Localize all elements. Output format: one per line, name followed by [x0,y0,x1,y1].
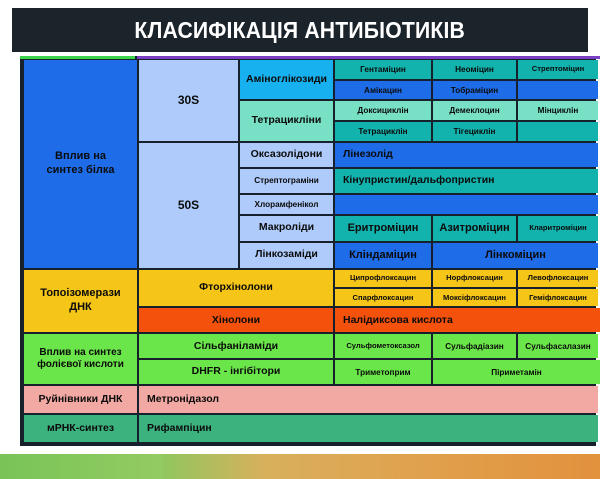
subunit-50s[interactable]: 50S [139,143,238,268]
drug-doxycycline[interactable]: Доксициклін [335,101,431,120]
group-dhfr-inhibitors[interactable]: DHFR - інгібітори [139,360,333,384]
category-folic-acid[interactable]: Вплив на синтезфолієвої кислоти [24,334,137,384]
category-topoisomerases[interactable]: ТопоізомеразиДНК [24,270,137,333]
drug-ciprofloxacin[interactable]: Ципрофлоксацин [335,270,431,287]
drug-sulfamethoxazole[interactable]: Сульфометоксазол [335,334,431,358]
drug-trimethoprim[interactable]: Триметоприм [335,360,431,384]
drug-pyrimethamine[interactable]: Піриметамін [433,360,600,384]
table-row: Вплив насинтез білка 30S Аміноглікозиди … [24,60,600,79]
drug-metronidazole[interactable]: Метронідазол [139,386,598,413]
group-chloramphenicol[interactable]: Хлорамфенікол [240,195,333,214]
drug-norfloxacin[interactable]: Норфлоксацин [433,270,516,287]
accent-green [20,56,135,59]
table-row: мРНК-синтез Рифампіцин [24,415,600,442]
drug-empty [518,81,598,100]
bottom-gradient-bar-green [0,454,163,479]
category-protein-synthesis[interactable]: Вплив насинтез білка [24,60,137,268]
drug-empty [335,195,598,214]
subunit-30s[interactable]: 30S [139,60,238,141]
group-macrolides[interactable]: Макроліди [240,216,333,241]
drug-streptomycin[interactable]: Стрептоміцин [518,60,598,79]
drug-amikacin[interactable]: Амікацин [335,81,431,100]
group-lincosamides[interactable]: Лінкозаміди [240,243,333,268]
drug-erythromycin[interactable]: Еритроміцин [335,216,431,241]
drug-lincomycin[interactable]: Лінкоміцин [433,243,598,268]
drug-tigecycline[interactable]: Тігециклін [433,122,516,141]
category-dna-disruptors[interactable]: Руйнівники ДНК [24,386,137,413]
table-top-accent-strip [20,56,596,60]
drug-gemifloxacin[interactable]: Геміфлоксацин [518,289,598,306]
drug-tetracycline[interactable]: Тетрациклін [335,122,431,141]
classification-table-frame: Вплив насинтез білка 30S Аміноглікозиди … [20,56,596,446]
group-fluoroquinolones[interactable]: Фторхінолони [139,270,333,307]
drug-moxifloxacin[interactable]: Моксіфлоксацин [433,289,516,306]
title-banner: КЛАСИФІКАЦІЯ АНТИБІОТИКІВ [12,8,588,52]
drug-clindamycin[interactable]: Кліндаміцин [335,243,431,268]
antibiotic-classification-table: Вплив насинтез білка 30S Аміноглікозиди … [22,58,600,444]
drug-sulfadiazine[interactable]: Сульфадіазин [433,334,516,358]
group-tetracyclines[interactable]: Тетрацикліни [240,101,333,140]
drug-sulfasalazine[interactable]: Сульфасалазин [518,334,598,358]
drug-demeclocycline[interactable]: Демеклоцин [433,101,516,120]
table-row: Руйнівники ДНК Метронідазол [24,386,600,413]
drug-clarithromycin[interactable]: Кларитроміцин [518,216,598,241]
drug-empty [518,122,598,141]
drug-levofloxacin[interactable]: Левофлоксацин [518,270,598,287]
table-row: ТопоізомеразиДНК Фторхінолони Ципрофлокс… [24,270,600,287]
drug-gentamicin[interactable]: Гентаміцин [335,60,431,79]
drug-tobramycin[interactable]: Тобраміцин [433,81,516,100]
drug-neomycin[interactable]: Неоміцин [433,60,516,79]
drug-sparfloxacin[interactable]: Спарфлоксацин [335,289,431,306]
table-row: Вплив на синтезфолієвої кислоти Сільфані… [24,334,600,358]
slide-root: КЛАСИФІКАЦІЯ АНТИБІОТИКІВ Вплив насинтез… [0,0,600,479]
group-aminoglycosides[interactable]: Аміноглікозиди [240,60,333,99]
drug-nalidixic-acid[interactable]: Налідиксова кислота [335,308,600,332]
drug-rifampicin[interactable]: Рифампіцин [139,415,598,442]
group-streptogramins[interactable]: Стрептограміни [240,169,333,193]
page-title: КЛАСИФІКАЦІЯ АНТИБІОТИКІВ [135,17,466,44]
group-quinolones[interactable]: Хінолони [139,308,333,332]
drug-minocycline[interactable]: Мінциклін [518,101,598,120]
accent-purple [137,56,600,59]
category-mrna-synthesis[interactable]: мРНК-синтез [24,415,137,442]
drug-azithromycin[interactable]: Азитроміцин [433,216,516,241]
drug-quinupristin-dalfopristin[interactable]: Кінупристин/дальфопристин [335,169,598,193]
group-sulfonamides[interactable]: Сільфаніламіди [139,334,333,358]
group-oxazolidinones[interactable]: Оксазолідони [240,143,333,167]
drug-linezolid[interactable]: Лінезолід [335,143,598,167]
